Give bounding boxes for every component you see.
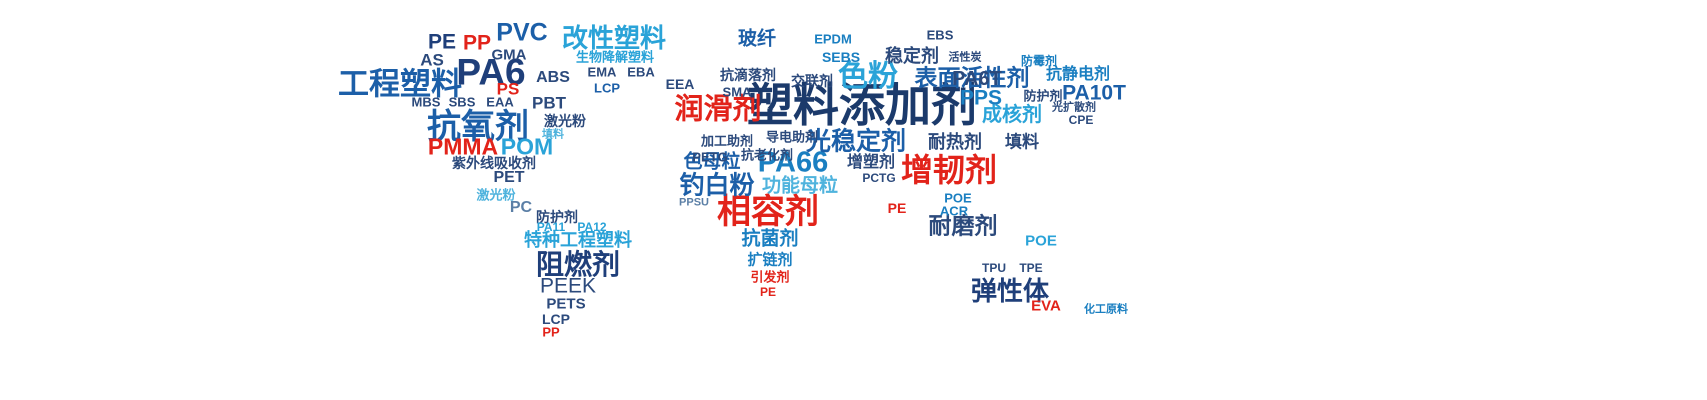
word-item[interactable]: 工程塑料	[338, 69, 462, 100]
word-item[interactable]: 色粉	[838, 62, 898, 92]
word-item[interactable]: PE	[888, 201, 907, 215]
word-item[interactable]: PA10T	[1062, 83, 1126, 104]
word-item[interactable]: PBT	[532, 95, 566, 112]
word-item[interactable]: 改性塑料	[562, 25, 666, 51]
word-item[interactable]: 激光粉	[544, 114, 586, 128]
word-item[interactable]: CPE	[1069, 114, 1094, 126]
word-item[interactable]: PC	[510, 200, 532, 216]
word-item[interactable]: PVC	[496, 21, 547, 46]
word-item[interactable]: 玻纤	[738, 30, 776, 49]
word-item[interactable]: EBS	[927, 29, 954, 42]
word-item[interactable]: PP	[542, 326, 559, 339]
word-item[interactable]: TPE	[1019, 262, 1042, 274]
word-item[interactable]: 抗静电剂	[1046, 67, 1110, 83]
word-item[interactable]: 紫外线吸收剂	[452, 156, 536, 170]
word-item[interactable]: 增塑剂	[847, 155, 895, 171]
word-item[interactable]: PA12	[577, 221, 606, 233]
word-item[interactable]: 功能母粒	[762, 177, 838, 196]
word-item[interactable]: EAA	[486, 96, 513, 109]
word-item[interactable]: PPSU	[679, 198, 709, 209]
word-item[interactable]: EVA	[1031, 299, 1061, 314]
word-item[interactable]: 扩链剂	[747, 253, 792, 268]
word-item[interactable]: EMA	[588, 66, 617, 79]
word-item[interactable]: 生物降解塑料	[576, 51, 654, 64]
word-item[interactable]: PE	[428, 32, 456, 53]
word-item[interactable]: 引发剂	[750, 271, 789, 284]
word-item[interactable]: 防霉剂	[1021, 55, 1057, 67]
word-item[interactable]: 导电助剂	[766, 131, 818, 144]
word-item[interactable]: 钓白粉	[679, 174, 754, 199]
word-item[interactable]: 活性炭	[949, 53, 982, 64]
word-item[interactable]: 交联剂	[791, 74, 833, 88]
word-item[interactable]: AS	[420, 52, 444, 69]
word-item[interactable]: SMA	[723, 86, 752, 99]
word-item[interactable]: PE	[760, 286, 776, 298]
word-item[interactable]: 相容剂	[717, 195, 819, 229]
word-item[interactable]: 稳定剂	[885, 47, 939, 65]
word-cloud-canvas: 塑料添加剂工程塑料PA6抗氧剂改性塑料润滑剂相容剂增韧剂阻燃剂色粉表面活性剂PA…	[0, 0, 1707, 400]
word-item[interactable]: MBS	[412, 96, 441, 109]
word-item[interactable]: PCTG	[862, 172, 895, 184]
word-item[interactable]: LCP	[594, 82, 620, 95]
word-item[interactable]: 填料	[1005, 134, 1039, 151]
word-item[interactable]: EBA	[627, 66, 654, 79]
word-item[interactable]: EPDM	[814, 33, 852, 46]
word-item[interactable]: 光扩散剂	[1052, 103, 1096, 114]
word-item[interactable]: PA11	[537, 221, 565, 233]
word-item[interactable]: 耐热剂	[928, 133, 982, 151]
word-item[interactable]: 加工助剂	[701, 135, 753, 148]
word-item[interactable]: ACR	[940, 205, 968, 218]
word-item[interactable]: EEA	[666, 77, 695, 91]
word-item[interactable]: SBS	[449, 96, 476, 109]
word-item[interactable]: 增韧剂	[901, 154, 997, 186]
word-item[interactable]: PET	[493, 170, 524, 186]
word-item[interactable]: 光稳定剂	[806, 130, 906, 155]
word-item[interactable]: ABS	[536, 70, 570, 86]
word-item[interactable]: 抗菌剂	[741, 230, 798, 249]
word-item[interactable]: 填料	[542, 130, 564, 141]
word-item[interactable]: 化工原料	[1084, 305, 1128, 316]
word-item[interactable]: TPU	[982, 262, 1006, 274]
word-item[interactable]: PETG	[692, 151, 727, 164]
word-item[interactable]: PEEK	[540, 276, 596, 297]
word-item[interactable]: PP	[463, 33, 491, 54]
word-item[interactable]: PPS	[960, 88, 1002, 109]
word-item[interactable]: PETS	[546, 297, 585, 312]
word-item[interactable]: GMA	[492, 48, 527, 63]
word-item[interactable]: 抗滴落剂	[720, 68, 776, 82]
word-item[interactable]: 润滑剂	[674, 96, 761, 125]
word-item[interactable]: 抗老化剂	[741, 149, 793, 162]
word-item[interactable]: SEBS	[822, 50, 860, 64]
word-item[interactable]: POE	[1025, 234, 1057, 249]
